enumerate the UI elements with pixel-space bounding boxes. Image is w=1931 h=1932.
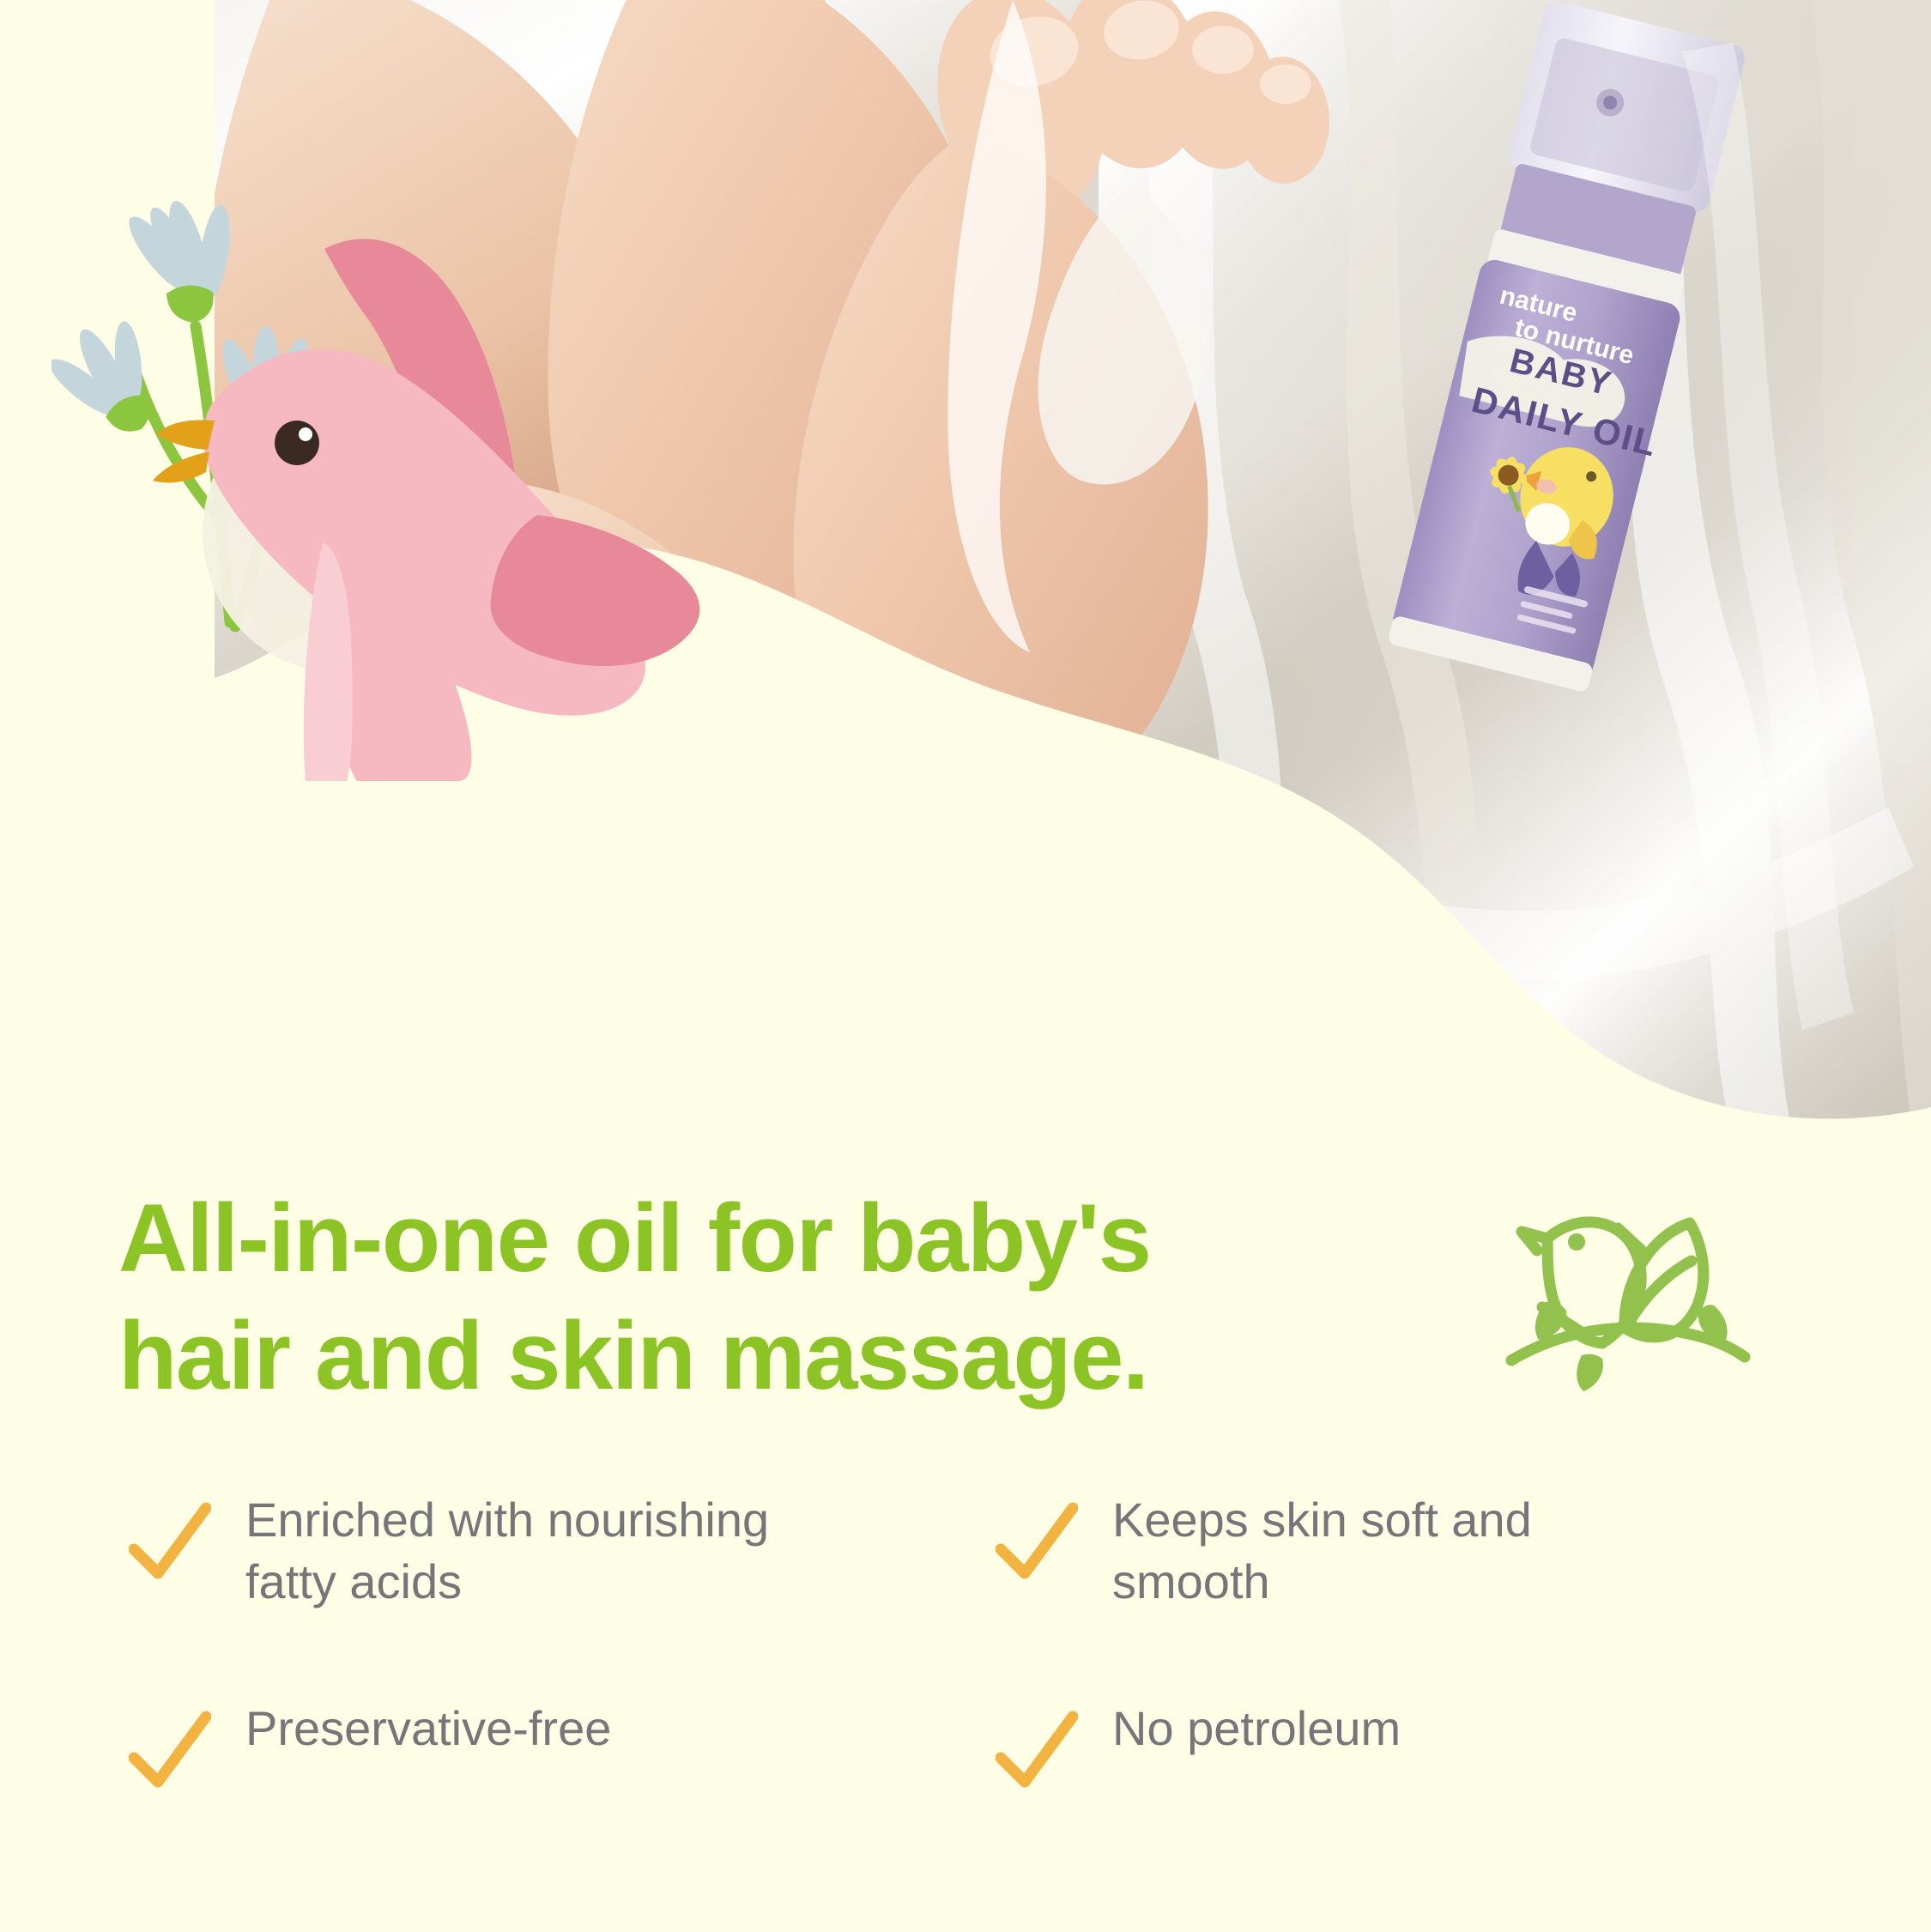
feature-item-no-petroleum: No petroleum bbox=[996, 1698, 1828, 1792]
feature-list: Enriched with nourishing fatty acids Kee… bbox=[129, 1489, 1828, 1792]
feature-item-preservative-free: Preservative-free bbox=[129, 1698, 961, 1792]
check-icon bbox=[129, 1501, 211, 1584]
logo-bird-eye bbox=[1568, 1233, 1585, 1251]
check-icon bbox=[996, 1710, 1078, 1792]
feature-label: Keeps skin soft and smooth bbox=[1112, 1489, 1662, 1612]
brand-logo bbox=[1498, 1197, 1755, 1395]
feature-label: No petroleum bbox=[1112, 1698, 1401, 1759]
feature-item-soft-smooth: Keeps skin soft and smooth bbox=[996, 1489, 1828, 1612]
page-title: All-in-one oil for baby's hair and skin … bbox=[118, 1180, 1277, 1414]
hero-photo: nature to nurture BABY DAILY OIL bbox=[0, 0, 1931, 1142]
feature-label: Enriched with nourishing fatty acids bbox=[245, 1489, 795, 1612]
check-icon bbox=[129, 1710, 211, 1792]
promo-card: nature to nurture BABY DAILY OIL bbox=[0, 0, 1931, 1932]
feature-label: Preservative-free bbox=[245, 1698, 611, 1759]
check-icon bbox=[996, 1501, 1078, 1584]
feature-item-fatty-acids: Enriched with nourishing fatty acids bbox=[129, 1489, 961, 1612]
logo-leaf-bottom bbox=[1577, 1354, 1603, 1391]
